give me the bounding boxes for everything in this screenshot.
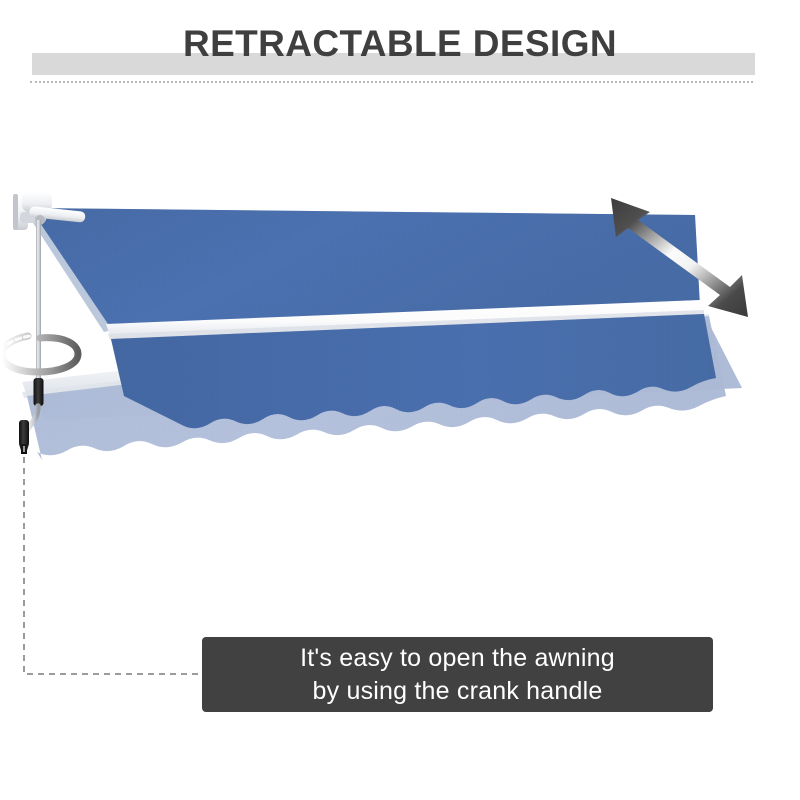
callout-text: It's easy to open the awning by using th… <box>300 642 615 708</box>
header-dotted-divider <box>30 81 753 83</box>
infographic-canvas: RETRACTABLE DESIGN <box>0 0 800 800</box>
page-title: RETRACTABLE DESIGN <box>0 22 800 66</box>
retractable-awning-illustration <box>0 120 800 540</box>
callout-line-1: It's easy to open the awning <box>300 642 615 675</box>
callout-text-box: It's easy to open the awning by using th… <box>202 637 713 712</box>
callout-line-2: by using the crank handle <box>300 675 615 708</box>
